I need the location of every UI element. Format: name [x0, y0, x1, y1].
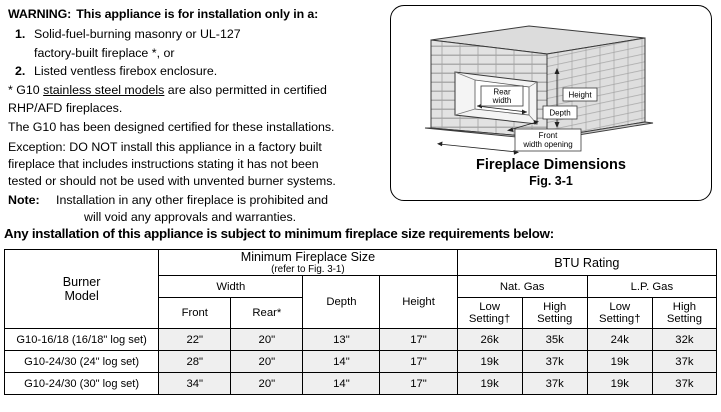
footnote-line2: RHP/AFD fireplaces. — [8, 100, 386, 117]
list-item-line1: Listed ventless firebox enclosure. — [34, 64, 217, 78]
footnote-prefix: * G10 — [8, 83, 43, 97]
list-item-continuation: factory-built fireplace *, or — [8, 45, 386, 62]
list-item-number: 2. — [15, 63, 25, 80]
list-item-line2: factory-built fireplace *, or — [34, 46, 174, 60]
exception-line1: Exception: DO NOT install this appliance… — [8, 139, 386, 156]
table-row: G10-24/30 (30" log set) 34" 20" 14" 17" … — [5, 373, 717, 395]
cell-nat-high: 35k — [522, 329, 587, 351]
cell-rear: 20" — [231, 351, 303, 373]
header-height: Height — [380, 276, 457, 329]
header-lp-low-line2: Setting† — [588, 313, 652, 325]
note-label: Note: — [8, 192, 40, 209]
header-burner-line1: Burner — [5, 275, 158, 289]
list-item-number: 1. — [15, 26, 25, 43]
svg-text:width: width — [492, 96, 512, 105]
header-btu-rating: BTU Rating — [457, 250, 716, 276]
figure-caption-title: Fireplace Dimensions — [391, 156, 711, 174]
cell-nat-high: 37k — [522, 373, 587, 395]
warning-text-block: WARNING:This appliance is for installati… — [8, 6, 386, 226]
note-block: Note: Installation in any other fireplac… — [8, 192, 386, 227]
header-min-size-line1: Minimum Fireplace Size — [159, 250, 456, 264]
warning-heading-text: This appliance is for installation only … — [76, 7, 318, 21]
header-rear: Rear* — [231, 298, 303, 329]
cell-lp-low: 19k — [587, 373, 652, 395]
exception-line2: fireplace that includes instructions sta… — [8, 156, 386, 173]
note-line1: Installation in any other fireplace is p… — [56, 193, 328, 207]
cell-lp-low: 24k — [587, 329, 652, 351]
fireplace-diagram: Rear width Height Depth Front width open… — [397, 10, 707, 160]
cell-lp-high: 37k — [652, 351, 716, 373]
svg-text:width opening: width opening — [522, 140, 572, 149]
warning-heading: WARNING:This appliance is for installati… — [8, 6, 386, 23]
cell-height: 17" — [380, 329, 457, 351]
document-page: WARNING:This appliance is for installati… — [0, 0, 721, 412]
paragraph-certified: The G10 has been designed certified for … — [8, 119, 386, 136]
header-lp-low-line1: Low — [588, 301, 652, 313]
cell-depth: 14" — [303, 373, 380, 395]
note-line2: will void any approvals and warranties. — [56, 209, 386, 226]
warning-list: 1. Solid-fuel-burning masonry or UL-127 … — [8, 26, 386, 80]
header-front: Front — [159, 298, 231, 329]
cell-depth: 13" — [303, 329, 380, 351]
cell-height: 17" — [380, 351, 457, 373]
cell-nat-low: 19k — [457, 351, 522, 373]
fireplace-figure-box: Rear width Height Depth Front width open… — [390, 5, 712, 201]
cell-height: 17" — [380, 373, 457, 395]
cell-depth: 14" — [303, 351, 380, 373]
header-min-size-line2: (refer to Fig. 3-1) — [159, 264, 456, 275]
cell-nat-low: 26k — [457, 329, 522, 351]
warning-label: WARNING: — [8, 7, 71, 21]
list-item-line1: Solid-fuel-burning masonry or UL-127 — [34, 27, 241, 41]
list-item: 2. Listed ventless firebox enclosure. — [8, 63, 386, 80]
cell-model: G10-24/30 (30" log set) — [5, 373, 159, 395]
header-lp-low: Low Setting† — [587, 298, 652, 329]
footnote-stainless: * G10 stainless steel models are also pe… — [8, 82, 386, 99]
cell-model: G10-16/18 (16/18" log set) — [5, 329, 159, 351]
cell-front: 34" — [159, 373, 231, 395]
cell-rear: 20" — [231, 329, 303, 351]
header-width: Width — [159, 276, 303, 298]
header-nat-high-line1: High — [523, 301, 587, 313]
svg-text:Depth: Depth — [549, 109, 570, 118]
header-depth: Depth — [303, 276, 380, 329]
cell-rear: 20" — [231, 373, 303, 395]
cell-lp-high: 32k — [652, 329, 716, 351]
cell-lp-low: 19k — [587, 351, 652, 373]
header-min-fireplace-size: Minimum Fireplace Size (refer to Fig. 3-… — [159, 250, 457, 276]
cell-front: 22" — [159, 329, 231, 351]
footnote-underlined: stainless steel models — [43, 83, 164, 97]
header-burner-model: Burner Model — [5, 250, 159, 329]
svg-text:Height: Height — [568, 91, 592, 100]
list-item: 1. Solid-fuel-burning masonry or UL-127 — [8, 26, 386, 43]
fireplace-size-table: Burner Model Minimum Fireplace Size (ref… — [4, 249, 717, 395]
top-section: WARNING:This appliance is for installati… — [0, 0, 721, 225]
cell-nat-low: 19k — [457, 373, 522, 395]
header-nat-gas: Nat. Gas — [457, 276, 587, 298]
cell-front: 28" — [159, 351, 231, 373]
cell-model: G10-24/30 (24" log set) — [5, 351, 159, 373]
figure-caption: Fireplace Dimensions Fig. 3-1 — [391, 156, 711, 190]
header-nat-high: High Setting — [522, 298, 587, 329]
cell-nat-high: 37k — [522, 351, 587, 373]
header-nat-high-line2: Setting — [523, 313, 587, 325]
table-row: G10-16/18 (16/18" log set) 22" 20" 13" 1… — [5, 329, 717, 351]
cell-lp-high: 37k — [652, 373, 716, 395]
table-subtitle: Any installation of this appliance is su… — [4, 226, 718, 241]
header-nat-low-line2: Setting† — [458, 313, 522, 325]
header-nat-low: Low Setting† — [457, 298, 522, 329]
header-lp-high: High Setting — [652, 298, 716, 329]
footnote-suffix: are also permitted in certified — [164, 83, 327, 97]
svg-text:Front: Front — [539, 131, 558, 140]
header-lp-high-line2: Setting — [653, 313, 716, 325]
table-row: G10-24/30 (24" log set) 28" 20" 14" 17" … — [5, 351, 717, 373]
figure-number: Fig. 3-1 — [391, 174, 711, 190]
header-burner-line2: Model — [5, 289, 158, 303]
exception-line3: tested or should not be used with unvent… — [8, 173, 386, 190]
header-nat-low-line1: Low — [458, 301, 522, 313]
header-lp-gas: L.P. Gas — [587, 276, 716, 298]
header-lp-high-line1: High — [653, 301, 716, 313]
